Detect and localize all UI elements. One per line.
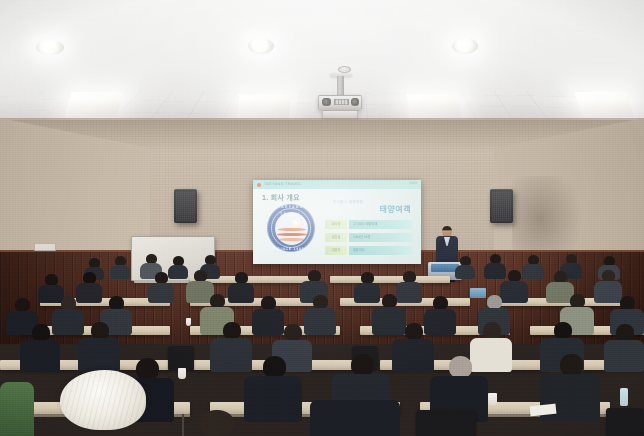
slide-top-bar: TAEYANG TRAVEL 2024 — [253, 180, 421, 189]
company-logo: TAEYANG TRAVEL SINCE 1993 — [267, 204, 315, 252]
logo-wave-icon — [277, 233, 307, 237]
foreground-person — [176, 410, 256, 436]
torso — [310, 400, 400, 436]
head — [382, 294, 397, 308]
desk — [330, 276, 450, 283]
head — [61, 296, 76, 310]
head — [261, 296, 276, 310]
slide-breadcrumb: TAEYANG TRAVEL — [264, 181, 302, 186]
chair — [606, 408, 644, 436]
head — [560, 354, 583, 376]
head — [200, 410, 234, 436]
torso — [455, 265, 475, 279]
audience-member — [20, 324, 60, 370]
foreground-person — [310, 400, 400, 436]
head — [263, 356, 286, 378]
head — [210, 294, 225, 308]
logo-wave-icon — [279, 238, 305, 242]
foreground-green-jacket — [0, 382, 34, 436]
info-row-value: 주식회사 태양여객 — [349, 220, 413, 229]
audience-member — [78, 322, 120, 370]
slide-info-row: 회사명 주식회사 태양여객 — [325, 220, 415, 229]
head — [620, 296, 635, 310]
head — [351, 354, 374, 376]
seminar-room-photo: TAEYANG TRAVEL 2024 1. 회사 개요 주식회사 태양여행 태… — [0, 0, 644, 436]
info-row-value: 1993년 03월 — [349, 233, 413, 242]
head — [554, 322, 572, 339]
audience-member — [148, 272, 174, 302]
info-row-label: 회사명 — [325, 220, 347, 229]
projector-mount-arm — [337, 76, 344, 96]
head — [313, 295, 328, 309]
head — [487, 295, 502, 309]
torso — [540, 374, 600, 422]
head — [223, 322, 241, 339]
paper-cup — [186, 318, 191, 326]
torso — [604, 340, 644, 372]
audience-member — [392, 323, 434, 370]
paper-cup — [488, 393, 497, 405]
head — [284, 324, 302, 341]
logo-wave-icon — [278, 228, 306, 232]
info-row-label: 설립일 — [325, 233, 347, 242]
slide-brand-name: 태양여객 — [380, 204, 411, 215]
paper-cup — [178, 368, 186, 379]
slide-title: 1. 회사 개요 — [262, 193, 300, 203]
head — [91, 322, 109, 339]
head — [449, 356, 472, 378]
slide-topbar-note: 2024 — [409, 181, 417, 185]
logo-sun-icon — [292, 219, 301, 228]
logo-inner-face — [275, 212, 308, 245]
head — [483, 322, 501, 339]
head — [136, 358, 159, 380]
hood-ribbing — [60, 370, 146, 430]
head — [405, 323, 423, 340]
torso — [148, 283, 174, 303]
audience-member — [455, 256, 475, 278]
head — [32, 324, 50, 341]
down-light — [452, 38, 478, 54]
head — [15, 298, 30, 312]
audience-area — [0, 250, 644, 436]
slide-logo-dot-icon — [257, 183, 261, 187]
head — [616, 324, 634, 341]
chair — [416, 410, 476, 436]
smoke-detector-icon — [338, 66, 351, 73]
head — [433, 296, 448, 310]
speaker-grille — [176, 191, 195, 221]
slide-info-row: 설립일 1993년 03월 — [325, 233, 415, 242]
wall-speaker-left — [174, 189, 197, 223]
down-light — [248, 38, 274, 54]
torso — [78, 338, 120, 372]
head — [109, 296, 124, 310]
head — [570, 294, 585, 308]
torso — [110, 265, 130, 279]
torso — [20, 340, 60, 372]
audience-member — [110, 256, 130, 278]
foreground-white-hood — [60, 370, 146, 430]
water-bottle — [620, 388, 628, 406]
down-light — [36, 40, 64, 55]
speaker-grille — [492, 191, 511, 221]
wall-speaker-right — [490, 189, 513, 223]
slide-subtitle: 주식회사 태양여행 — [333, 200, 363, 205]
torso — [392, 339, 434, 372]
audience-member — [604, 324, 644, 370]
